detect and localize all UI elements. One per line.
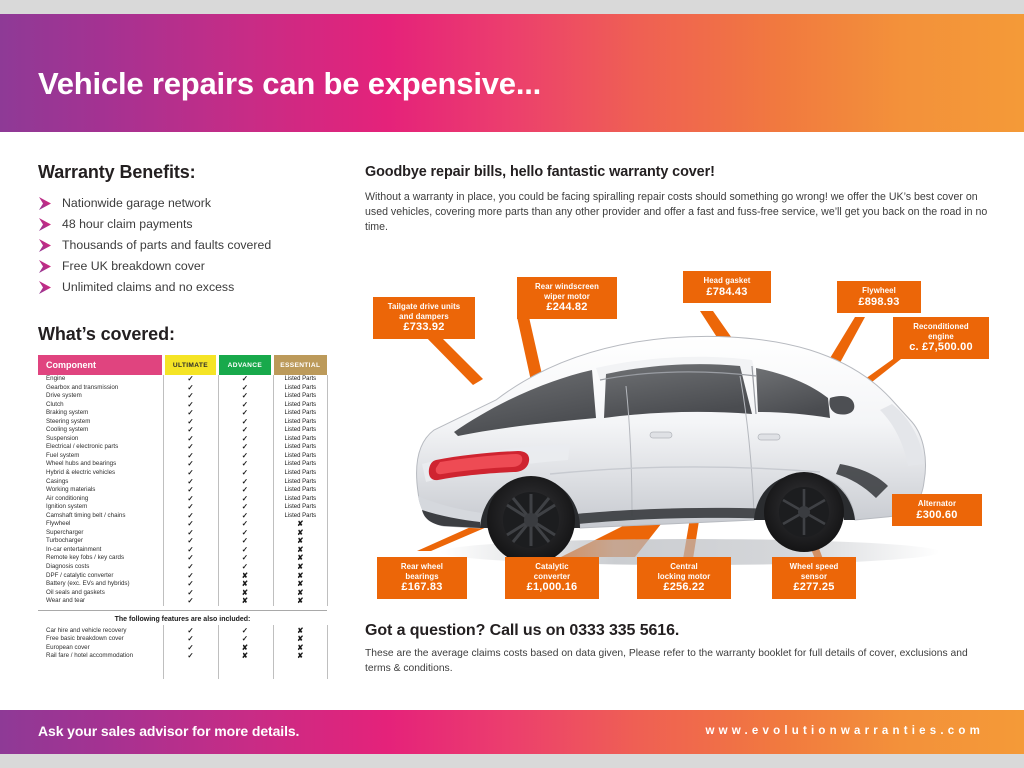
- table-row: Flywheel✓✓✘: [38, 520, 327, 529]
- whats-covered-heading: What’s covered:: [38, 324, 328, 345]
- callout-line1: Rear windscreen: [535, 282, 599, 291]
- footer-band: Ask your sales advisor for more details.…: [0, 710, 1024, 754]
- table-row: Camshaft timing belt / chains✓✓Listed Pa…: [38, 512, 327, 521]
- table-row: Steering system✓✓Listed Parts: [38, 418, 327, 427]
- chevron-right-icon: [38, 281, 53, 294]
- column-divider: [218, 625, 219, 679]
- callout-line1: Tailgate drive units: [388, 302, 460, 311]
- callout-wheel-speed-sensor: Wheel speed sensor £277.25: [772, 557, 856, 599]
- poster-page: Vehicle repairs can be expensive... Warr…: [0, 14, 1024, 754]
- cell-component: Diagnosis costs: [38, 563, 162, 572]
- column-divider: [218, 375, 219, 606]
- table-row: European cover✓✘✘: [38, 644, 327, 653]
- chevron-right-icon: [38, 218, 53, 231]
- column-divider: [273, 375, 274, 606]
- column-header-essential: ESSENTIAL: [274, 355, 327, 375]
- table-row: Rail fare / hotel accommodation✓✘✘: [38, 652, 327, 661]
- list-item: Nationwide garage network: [38, 193, 328, 214]
- callout-price: £733.92: [380, 323, 468, 333]
- cell-component: Braking system: [38, 409, 162, 418]
- cell-component: Casings: [38, 478, 162, 487]
- callout-line2: and dampers: [399, 312, 449, 321]
- callout-reconditioned-engine: Reconditioned engine c. £7,500.00: [893, 317, 989, 359]
- cell-essential: Listed Parts: [274, 392, 327, 401]
- cell-essential: Listed Parts: [274, 495, 327, 504]
- cell-component: Ignition system: [38, 503, 162, 512]
- table-row: In-car entertainment✓✓✘: [38, 546, 327, 555]
- callout-wiper-motor: Rear windscreen wiper motor £244.82: [517, 277, 617, 319]
- table-row: Working materials✓✓Listed Parts: [38, 486, 327, 495]
- cell-component: Engine: [38, 375, 162, 384]
- table-header-row: Component ULTIMATE ADVANCE ESSENTIAL: [38, 355, 327, 375]
- cell-component: Oil seals and gaskets: [38, 589, 162, 598]
- benefit-label: Unlimited claims and no excess: [62, 277, 234, 298]
- left-column: Warranty Benefits: Nationwide garage net…: [38, 162, 328, 661]
- table-row: Free basic breakdown cover✓✓✘: [38, 635, 327, 644]
- cell-essential: ✘: [274, 597, 327, 606]
- cell-component: Air conditioning: [38, 495, 162, 504]
- cell-component: Gearbox and transmission: [38, 384, 162, 393]
- coverage-table: Component ULTIMATE ADVANCE ESSENTIAL Eng…: [38, 355, 327, 661]
- cell-component: Cooling system: [38, 426, 162, 435]
- cell-essential: Listed Parts: [274, 409, 327, 418]
- table-row: Cooling system✓✓Listed Parts: [38, 426, 327, 435]
- callout-catalytic-converter: Catalytic converter £1,000.16: [505, 557, 599, 599]
- callout-line1: Catalytic: [535, 562, 568, 571]
- cell-essential: ✘: [274, 652, 327, 661]
- callout-line2: sensor: [801, 572, 827, 581]
- table-row: Car hire and vehicle recovery✓✓✘: [38, 627, 327, 636]
- cell-component: Supercharger: [38, 529, 162, 538]
- question-subtitle: These are the average claims costs based…: [365, 647, 985, 676]
- list-item: Free UK breakdown cover: [38, 256, 328, 277]
- cell-component: Clutch: [38, 401, 162, 410]
- cell-essential: Listed Parts: [274, 435, 327, 444]
- chevron-right-icon: [38, 239, 53, 252]
- features-table-body: Car hire and vehicle recovery✓✓✘Free bas…: [38, 627, 327, 661]
- cell-component: Remote key fobs / key cards: [38, 554, 162, 563]
- callout-central-locking-motor: Central locking motor £256.22: [637, 557, 731, 599]
- cell-essential: Listed Parts: [274, 443, 327, 452]
- footer-cta: Ask your sales advisor for more details.: [38, 723, 299, 739]
- page-title: Vehicle repairs can be expensive...: [38, 66, 541, 102]
- table-row: Hybrid & electric vehicles✓✓Listed Parts: [38, 469, 327, 478]
- cell-component: Free basic breakdown cover: [38, 635, 162, 644]
- callout-price: £256.22: [644, 583, 724, 593]
- header-band: Vehicle repairs can be expensive...: [0, 14, 1024, 132]
- table-body: Engine✓✓Listed PartsGearbox and transmis…: [38, 375, 327, 606]
- cell-essential: Listed Parts: [274, 460, 327, 469]
- cell-essential: Listed Parts: [274, 452, 327, 461]
- benefit-label: Free UK breakdown cover: [62, 256, 205, 277]
- cell-advance: ✘: [219, 597, 270, 606]
- cell-essential: Listed Parts: [274, 384, 327, 393]
- cell-component: Suspension: [38, 435, 162, 444]
- benefit-label: Thousands of parts and faults covered: [62, 235, 271, 256]
- callout-line1: Head gasket: [703, 276, 750, 285]
- cell-advance: ✘: [219, 652, 270, 661]
- callout-rear-wheel-bearings: Rear wheel bearings £167.83: [377, 557, 467, 599]
- cell-component: Wheel hubs and bearings: [38, 460, 162, 469]
- list-item: Thousands of parts and faults covered: [38, 235, 328, 256]
- column-header-component: Component: [38, 355, 162, 375]
- cell-component: Steering system: [38, 418, 162, 427]
- callout-price: £300.60: [899, 511, 975, 521]
- table-row: Ignition system✓✓Listed Parts: [38, 503, 327, 512]
- chevron-right-icon: [38, 197, 53, 210]
- vehicle-diagram: Tailgate drive units and dampers £733.92…: [365, 259, 995, 609]
- table-row: Electrical / electronic parts✓✓Listed Pa…: [38, 443, 327, 452]
- table-row: DPF / catalytic converter✓✘✘: [38, 572, 327, 581]
- column-divider: [163, 375, 164, 606]
- callout-tailgate: Tailgate drive units and dampers £733.92: [373, 297, 475, 339]
- cell-ultimate: ✓: [165, 652, 216, 661]
- warranty-benefits-heading: Warranty Benefits:: [38, 162, 328, 183]
- features-heading: The following features are also included…: [38, 610, 327, 627]
- features-header-wrap: The following features are also included…: [38, 610, 327, 627]
- callout-head-gasket: Head gasket £784.43: [683, 271, 771, 303]
- footer-website[interactable]: www.evolutionwarranties.com: [706, 725, 984, 737]
- table-row: Braking system✓✓Listed Parts: [38, 409, 327, 418]
- callout-price: £167.83: [384, 583, 460, 593]
- cell-essential: Listed Parts: [274, 478, 327, 487]
- callout-price: c. £7,500.00: [900, 343, 982, 353]
- callout-line2: engine: [928, 332, 954, 341]
- callout-line1: Alternator: [918, 499, 956, 508]
- table-row: Remote key fobs / key cards✓✓✘: [38, 554, 327, 563]
- callout-price: £244.82: [524, 303, 610, 313]
- column-divider: [327, 625, 328, 679]
- callout-line1: Rear wheel: [401, 562, 443, 571]
- cell-essential: Listed Parts: [274, 503, 327, 512]
- cell-component: Car hire and vehicle recovery: [38, 627, 162, 636]
- table-row: Casings✓✓Listed Parts: [38, 478, 327, 487]
- main-paragraph: Without a warranty in place, you could b…: [365, 190, 990, 235]
- list-item: 48 hour claim payments: [38, 214, 328, 235]
- benefit-label: Nationwide garage network: [62, 193, 211, 214]
- table-row: Battery (exc. EVs and hybrids)✓✘✘: [38, 580, 327, 589]
- cell-essential: Listed Parts: [274, 418, 327, 427]
- callout-price: £784.43: [690, 288, 764, 298]
- cell-component: Wear and tear: [38, 597, 162, 606]
- cell-component: Working materials: [38, 486, 162, 495]
- cell-component: European cover: [38, 644, 162, 653]
- callout-line2: wiper motor: [544, 292, 590, 301]
- cell-component: Drive system: [38, 392, 162, 401]
- callout-line1: Wheel speed: [790, 562, 839, 571]
- column-header-ultimate: ULTIMATE: [165, 355, 216, 375]
- cell-component: Camshaft timing belt / chains: [38, 512, 162, 521]
- table-row: Air conditioning✓✓Listed Parts: [38, 495, 327, 504]
- callout-line2: locking motor: [658, 572, 711, 581]
- callout-price: £277.25: [779, 583, 849, 593]
- table-row: Gearbox and transmission✓✓Listed Parts: [38, 384, 327, 393]
- benefit-label: 48 hour claim payments: [62, 214, 193, 235]
- callout-line1: Flywheel: [862, 286, 896, 295]
- column-divider: [327, 375, 328, 606]
- column-divider: [163, 625, 164, 679]
- main-heading: Goodbye repair bills, hello fantastic wa…: [365, 164, 990, 180]
- callout-alternator: Alternator £300.60: [892, 494, 982, 526]
- right-column: Goodbye repair bills, hello fantastic wa…: [365, 164, 990, 235]
- cell-component: Battery (exc. EVs and hybrids): [38, 580, 162, 589]
- car-illustration: [400, 314, 960, 594]
- warranty-benefits-list: Nationwide garage network 48 hour claim …: [38, 193, 328, 298]
- table-row: Fuel system✓✓Listed Parts: [38, 452, 327, 461]
- cell-component: DPF / catalytic converter: [38, 572, 162, 581]
- cell-essential: Listed Parts: [274, 401, 327, 410]
- cell-essential: Listed Parts: [274, 469, 327, 478]
- callout-price: £898.93: [844, 298, 914, 308]
- cell-component: Electrical / electronic parts: [38, 443, 162, 452]
- callout-line2: bearings: [405, 572, 438, 581]
- cell-essential: Listed Parts: [274, 486, 327, 495]
- chevron-right-icon: [38, 260, 53, 273]
- question-block: Got a question? Call us on 0333 335 5616…: [365, 622, 985, 676]
- column-header-advance: ADVANCE: [219, 355, 270, 375]
- cell-component: Fuel system: [38, 452, 162, 461]
- table-row: Wheel hubs and bearings✓✓Listed Parts: [38, 460, 327, 469]
- column-divider: [273, 625, 274, 679]
- callout-price: £1,000.16: [512, 583, 592, 593]
- table-row: Supercharger✓✓✘: [38, 529, 327, 538]
- cell-component: Rail fare / hotel accommodation: [38, 652, 162, 661]
- table-row: Diagnosis costs✓✓✘: [38, 563, 327, 572]
- table-row: Drive system✓✓Listed Parts: [38, 392, 327, 401]
- table-row: Suspension✓✓Listed Parts: [38, 435, 327, 444]
- cell-component: In-car entertainment: [38, 546, 162, 555]
- callout-line2: converter: [534, 572, 570, 581]
- cell-ultimate: ✓: [165, 597, 216, 606]
- cell-essential: Listed Parts: [274, 426, 327, 435]
- callout-line1: Central: [670, 562, 698, 571]
- table-row: Engine✓✓Listed Parts: [38, 375, 327, 384]
- callout-line1: Reconditioned: [913, 322, 968, 331]
- callout-flywheel: Flywheel £898.93: [837, 281, 921, 313]
- table-row: Oil seals and gaskets✓✘✘: [38, 589, 327, 598]
- cell-component: Flywheel: [38, 520, 162, 529]
- question-title: Got a question? Call us on 0333 335 5616…: [365, 622, 985, 640]
- table-row: Turbocharger✓✓✘: [38, 537, 327, 546]
- cell-essential: Listed Parts: [274, 375, 327, 384]
- list-item: Unlimited claims and no excess: [38, 277, 328, 298]
- cell-component: Hybrid & electric vehicles: [38, 469, 162, 478]
- cell-component: Turbocharger: [38, 537, 162, 546]
- table-row: Clutch✓✓Listed Parts: [38, 401, 327, 410]
- table-row: Wear and tear✓✘✘: [38, 597, 327, 606]
